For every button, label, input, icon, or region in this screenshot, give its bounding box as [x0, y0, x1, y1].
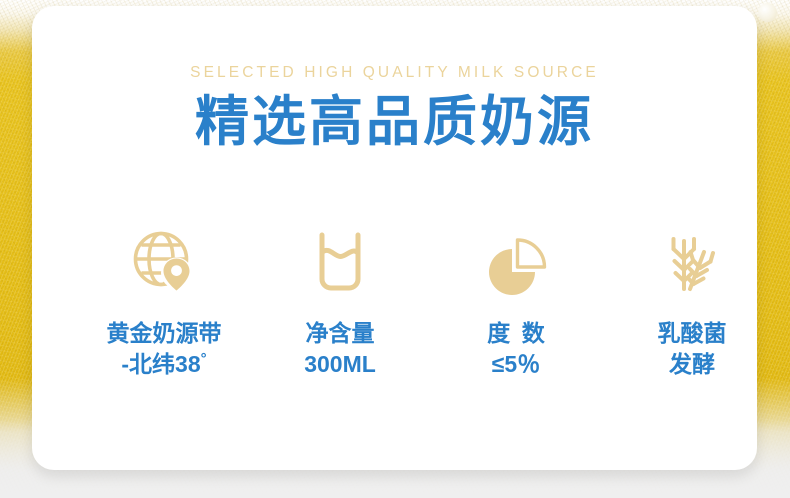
- heading-block: SELECTED HIGH QUALITY MILK SOURCE 精选高品质奶…: [32, 64, 757, 151]
- feature-item-net-content: 净含量 300ML: [254, 228, 426, 379]
- feature-label-net-content: 净含量 300ML: [304, 318, 376, 379]
- latitude-value: -北纬38: [121, 351, 200, 377]
- feature-item-fermentation: 乳酸菌 发酵: [606, 228, 778, 379]
- feature-item-milk-belt: 黄金奶源带 -北纬38°: [78, 228, 250, 379]
- feature-line-1: 黄金奶源带: [107, 320, 222, 346]
- feature-line-1: 净含量: [306, 320, 375, 346]
- feature-line-1-b: 数: [522, 320, 545, 346]
- feature-row: 黄金奶源带 -北纬38° 净含量 300ML: [78, 228, 778, 379]
- feature-line-1-a: 度: [487, 320, 510, 346]
- wheat-stalks-icon: [658, 228, 726, 296]
- globe-location-pin-icon: [130, 228, 198, 296]
- page-title: 精选高品质奶源: [32, 93, 757, 151]
- foam-bubble: [758, 3, 777, 22]
- promo-banner: SELECTED HIGH QUALITY MILK SOURCE 精选高品质奶…: [0, 0, 790, 498]
- glass-volume-icon: [306, 228, 374, 296]
- feature-item-degree: 度数 ≤5％: [430, 228, 602, 379]
- subtitle-english: SELECTED HIGH QUALITY MILK SOURCE: [32, 64, 757, 82]
- feature-label-fermentation: 乳酸菌 发酵: [658, 318, 727, 379]
- feature-line-1: 乳酸菌: [658, 320, 727, 346]
- degree-symbol: °: [201, 350, 207, 367]
- feature-line-2: -北纬38°: [107, 349, 222, 380]
- pie-chart-icon: [482, 228, 550, 296]
- feature-line-2: 发酵: [658, 349, 727, 380]
- feature-line-2: ≤5％: [487, 349, 545, 380]
- feature-line-2: 300ML: [304, 349, 376, 380]
- feature-label-degree: 度数 ≤5％: [487, 318, 545, 379]
- feature-label-milk-belt: 黄金奶源带 -北纬38°: [107, 318, 222, 379]
- milk-source-card: SELECTED HIGH QUALITY MILK SOURCE 精选高品质奶…: [32, 6, 757, 470]
